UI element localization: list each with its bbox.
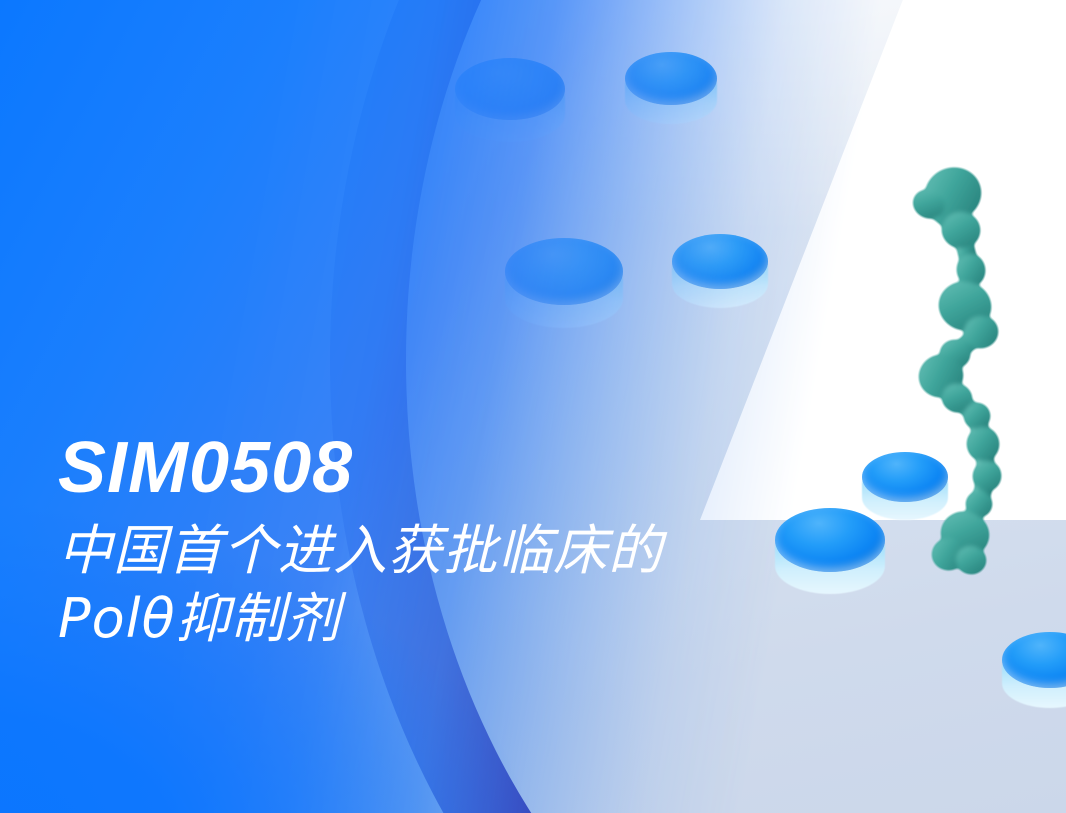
headline-block: SIM0508 中国首个进入获批临床的 Polθ抑制剂: [58, 432, 858, 652]
brand-corner-glow: [0, 0, 1066, 813]
subtitle-line-2: Polθ抑制剂: [58, 586, 858, 652]
poster-canvas: SIM0508 中国首个进入获批临床的 Polθ抑制剂: [0, 0, 1066, 813]
page-title: SIM0508: [58, 432, 858, 504]
subtitle-line-1: 中国首个进入获批临床的: [58, 518, 858, 584]
